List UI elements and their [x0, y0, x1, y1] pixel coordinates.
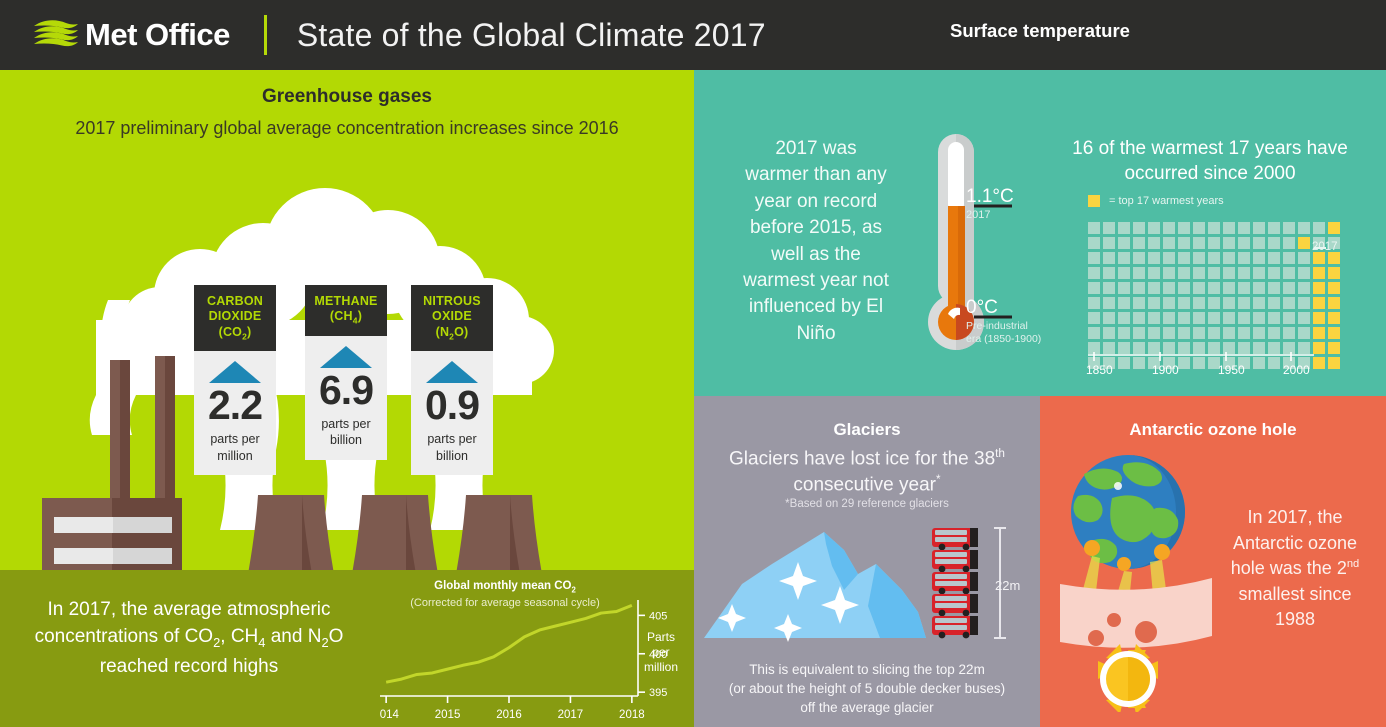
grid-cell — [1118, 282, 1130, 294]
grid-cell — [1193, 267, 1205, 279]
axis-tick-label: 2000 — [1283, 363, 1310, 377]
up-triangle-icon — [209, 361, 261, 383]
grid-cell — [1103, 237, 1115, 249]
warmest-years-tick-labels: 1850190019502000 — [1060, 363, 1360, 381]
grid-cell — [1118, 252, 1130, 264]
grid-cell — [1238, 282, 1250, 294]
svg-text:2015: 2015 — [435, 709, 461, 721]
grid-cell — [1118, 237, 1130, 249]
grid-cell-warmest — [1328, 342, 1340, 354]
ozone-statement: In 2017, the Antarctic ozone hole was th… — [1220, 505, 1370, 633]
axis-tick-label: 1850 — [1086, 363, 1113, 377]
grid-cell — [1193, 222, 1205, 234]
grid-cell — [1088, 297, 1100, 309]
grid-cell — [1088, 222, 1100, 234]
grid-cell-warmest — [1328, 327, 1340, 339]
greenhouse-title: Greenhouse gases — [0, 86, 694, 108]
glacier-icon — [704, 532, 926, 642]
grid-cell-warmest — [1328, 222, 1340, 234]
header-divider — [264, 15, 267, 55]
gas-card-body: 0.9 parts per billion — [411, 351, 493, 475]
grid-cell — [1148, 297, 1160, 309]
greenhouse-gases-panel: Greenhouse gases 2017 preliminary global… — [0, 70, 694, 570]
grid-cell — [1208, 327, 1220, 339]
svg-text:395: 395 — [649, 687, 667, 699]
grid-cell — [1088, 237, 1100, 249]
gas-formula: (CO2) — [196, 325, 274, 342]
grid-cell — [1268, 297, 1280, 309]
axis-tick-label: 1950 — [1218, 363, 1245, 377]
surface-temperature-title: Surface temperature — [694, 20, 1386, 42]
grid-cell — [1163, 222, 1175, 234]
ozone-title: Antarctic ozone hole — [1040, 420, 1386, 440]
grid-cell — [1103, 252, 1115, 264]
glaciers-footnote: This is equivalent to slicing the top 22… — [700, 660, 1034, 717]
svg-text:405: 405 — [649, 610, 667, 622]
grid-cell-warmest — [1328, 282, 1340, 294]
grid-cell — [1088, 282, 1100, 294]
grid-cell — [1193, 252, 1205, 264]
warmest-years-grid — [1088, 222, 1343, 372]
grid-cell — [1253, 222, 1265, 234]
grid-cell — [1298, 312, 1310, 324]
co2-chart-ylabel: Parts per million — [636, 630, 686, 675]
grid-cell — [1103, 267, 1115, 279]
grid-cell — [1298, 222, 1310, 234]
grid-cell — [1103, 222, 1115, 234]
greenhouse-subtitle: 2017 preliminary global average concentr… — [0, 118, 694, 139]
grid-cell — [1238, 237, 1250, 249]
grid-cell — [1193, 312, 1205, 324]
thermometer-high-label: 1.1°C — [966, 186, 1014, 208]
grid-cell — [1253, 237, 1265, 249]
grid-cell — [1118, 267, 1130, 279]
grid-cell — [1133, 267, 1145, 279]
grid-cell — [1103, 282, 1115, 294]
gas-name-line1: METHANE — [307, 294, 385, 309]
double-decker-bus-icon — [932, 528, 978, 550]
grid-cell — [1133, 327, 1145, 339]
grid-cell — [1133, 237, 1145, 249]
grid-cell — [1298, 252, 1310, 264]
warmest-years-legend: = top 17 warmest years — [1088, 195, 1224, 207]
grid-cell — [1163, 282, 1175, 294]
grid-cell — [1208, 312, 1220, 324]
grid-row — [1088, 237, 1343, 252]
legend-label: = top 17 warmest years — [1109, 195, 1224, 207]
logo-wordmark: Met Office — [85, 17, 230, 53]
gas-name-line2: DIOXIDE — [196, 309, 274, 324]
grid-cell — [1148, 237, 1160, 249]
glacier-measure-label: 22m — [995, 578, 1020, 593]
grid-cell-warmest — [1328, 252, 1340, 264]
grid-cell — [1148, 252, 1160, 264]
svg-text:2018: 2018 — [619, 709, 645, 721]
grid-cell — [1193, 297, 1205, 309]
grid-cell — [1178, 327, 1190, 339]
gas-formula: (N2O) — [413, 325, 491, 342]
gas-card-header: CARBON DIOXIDE (CO2) — [194, 285, 276, 351]
grid-cell — [1148, 327, 1160, 339]
grid-cell — [1193, 282, 1205, 294]
grid-cell — [1088, 312, 1100, 324]
gas-value: 2.2 — [196, 385, 274, 426]
grid-cell — [1298, 267, 1310, 279]
grid-cell — [1163, 267, 1175, 279]
grid-cell — [1268, 252, 1280, 264]
grid-cell — [1178, 297, 1190, 309]
bus-stack-icon — [932, 528, 978, 638]
pointer-label-2017: 2017 — [1312, 241, 1338, 253]
grid-cell — [1118, 327, 1130, 339]
glaciers-note: *Based on 29 reference glaciers — [704, 498, 1030, 510]
grid-row — [1088, 312, 1343, 327]
grid-cell — [1208, 282, 1220, 294]
grid-cell — [1088, 267, 1100, 279]
grid-cell — [1223, 222, 1235, 234]
grid-cell — [1298, 297, 1310, 309]
gas-name-line1: NITROUS — [413, 294, 491, 309]
grid-cell — [1238, 327, 1250, 339]
grid-cell — [1283, 252, 1295, 264]
glacier-and-buses-illustration — [694, 520, 1040, 645]
grid-cell — [1193, 327, 1205, 339]
warmest-years-axis — [1086, 352, 1316, 362]
grid-cell — [1283, 237, 1295, 249]
grid-row — [1088, 282, 1343, 297]
glaciers-statement: Glaciers have lost ice for the 38th cons… — [704, 446, 1030, 497]
gas-card-header: METHANE (CH4) — [305, 285, 387, 336]
cooling-tower-icon — [236, 495, 554, 570]
gas-card-header: NITROUS OXIDE (N2O) — [411, 285, 493, 351]
grid-cell — [1208, 237, 1220, 249]
grid-cell — [1283, 327, 1295, 339]
grid-cell — [1223, 312, 1235, 324]
grid-cell-warmest — [1313, 297, 1325, 309]
grid-cell — [1268, 312, 1280, 324]
grid-cell — [1238, 267, 1250, 279]
axis-tick-label: 1900 — [1152, 363, 1179, 377]
grid-cell — [1163, 312, 1175, 324]
grid-cell-warmest — [1328, 267, 1340, 279]
grid-cell — [1178, 222, 1190, 234]
grid-cell — [1208, 252, 1220, 264]
grid-cell — [1253, 312, 1265, 324]
gas-unit: parts per million — [196, 431, 274, 464]
greenhouse-bottom-panel: In 2017, the average atmospheric concent… — [0, 570, 694, 727]
grid-row — [1088, 267, 1343, 282]
grid-cell — [1268, 282, 1280, 294]
grid-cell — [1208, 297, 1220, 309]
grid-cell — [1148, 267, 1160, 279]
svg-text:2016: 2016 — [496, 709, 522, 721]
earth-globe-icon — [1071, 455, 1185, 571]
grid-cell — [1283, 282, 1295, 294]
grid-cell — [1163, 297, 1175, 309]
infographic-page: Met Office State of the Global Climate 2… — [0, 0, 1386, 727]
grid-cell — [1163, 237, 1175, 249]
grid-cell — [1178, 252, 1190, 264]
grid-cell — [1283, 222, 1295, 234]
grid-cell — [1193, 237, 1205, 249]
grid-cell — [1223, 297, 1235, 309]
gas-name-line2: OXIDE — [413, 309, 491, 324]
grid-cell — [1178, 267, 1190, 279]
up-triangle-icon — [320, 346, 372, 368]
gas-card-nitrous-oxide[interactable]: NITROUS OXIDE (N2O) 0.9 parts per billio… — [411, 285, 493, 475]
grid-cell — [1148, 282, 1160, 294]
grid-cell — [1253, 327, 1265, 339]
svg-text:2017: 2017 — [558, 709, 584, 721]
ozone-illustration — [1050, 452, 1240, 712]
up-triangle-icon — [426, 361, 478, 383]
gas-unit: parts per billion — [413, 431, 491, 464]
grid-cell — [1103, 297, 1115, 309]
met-office-logo[interactable]: Met Office — [32, 17, 230, 53]
grid-cell — [1088, 327, 1100, 339]
grid-cell — [1253, 282, 1265, 294]
grid-cell — [1298, 282, 1310, 294]
grid-cell — [1118, 297, 1130, 309]
grid-cell-warmest — [1298, 237, 1310, 249]
double-decker-bus-icon — [932, 594, 978, 616]
grid-cell — [1298, 327, 1310, 339]
double-decker-bus-icon — [932, 550, 978, 572]
gas-card-body: 6.9 parts per billion — [305, 336, 387, 460]
grid-cell — [1208, 222, 1220, 234]
grid-row — [1088, 252, 1343, 267]
grid-row — [1088, 222, 1343, 237]
svg-text:2014: 2014 — [380, 709, 400, 721]
grid-cell — [1133, 222, 1145, 234]
grid-cell — [1103, 312, 1115, 324]
surface-temperature-statement: 2017 was warmer than any year on record … — [742, 136, 890, 347]
glaciers-title: Glaciers — [694, 420, 1040, 440]
grid-cell — [1253, 297, 1265, 309]
grid-cell — [1133, 282, 1145, 294]
grid-cell — [1148, 222, 1160, 234]
grid-cell — [1178, 282, 1190, 294]
grid-cell — [1148, 312, 1160, 324]
grid-cell — [1238, 222, 1250, 234]
grid-cell — [1223, 237, 1235, 249]
grid-cell — [1238, 252, 1250, 264]
grid-cell — [1133, 252, 1145, 264]
grid-cell — [1133, 297, 1145, 309]
gas-value: 0.9 — [413, 385, 491, 426]
factory-building-icon — [42, 498, 182, 570]
grid-cell — [1268, 267, 1280, 279]
ozone-layer-icon — [1060, 578, 1212, 648]
grid-cell — [1118, 222, 1130, 234]
grid-cell — [1283, 312, 1295, 324]
grid-cell — [1223, 282, 1235, 294]
gas-card-carbon-dioxide[interactable]: CARBON DIOXIDE (CO2) 2.2 parts per milli… — [194, 285, 276, 475]
grid-cell — [1088, 252, 1100, 264]
double-decker-bus-icon — [932, 616, 978, 638]
grid-cell-warmest — [1328, 297, 1340, 309]
grid-cell — [1163, 327, 1175, 339]
grid-cell-warmest — [1313, 312, 1325, 324]
gas-card-methane[interactable]: METHANE (CH4) 6.9 parts per billion — [305, 285, 387, 460]
grid-cell — [1223, 252, 1235, 264]
gas-value: 6.9 — [307, 370, 385, 411]
grid-cell — [1253, 267, 1265, 279]
gas-card-body: 2.2 parts per million — [194, 351, 276, 475]
grid-cell — [1313, 222, 1325, 234]
sun-icon — [1098, 644, 1158, 712]
grid-cell-warmest — [1313, 282, 1325, 294]
thermometer-low-sublabel: Pre-industrial era (1850-1900) — [966, 320, 1041, 346]
thermometer-low-label: 0°C — [966, 297, 998, 319]
thermometer-high-sublabel: 2017 — [966, 209, 990, 221]
grid-cell — [1163, 252, 1175, 264]
double-decker-bus-icon — [932, 572, 978, 594]
grid-cell-warmest — [1328, 312, 1340, 324]
gas-formula: (CH4) — [307, 309, 385, 326]
legend-swatch-icon — [1088, 195, 1100, 207]
grid-cell — [1268, 327, 1280, 339]
grid-cell — [1238, 297, 1250, 309]
grid-cell-warmest — [1313, 252, 1325, 264]
grid-cell — [1103, 327, 1115, 339]
grid-row — [1088, 327, 1343, 342]
grid-cell — [1223, 327, 1235, 339]
grid-cell — [1268, 222, 1280, 234]
grid-cell — [1238, 312, 1250, 324]
gas-name-line1: CARBON — [196, 294, 274, 309]
met-office-wave-icon — [32, 18, 80, 52]
grid-row — [1088, 297, 1343, 312]
warmest-years-headline: 16 of the warmest 17 years have occurred… — [1040, 136, 1380, 186]
grid-cell — [1178, 237, 1190, 249]
grid-cell — [1208, 267, 1220, 279]
grid-cell — [1223, 267, 1235, 279]
grid-cell — [1178, 312, 1190, 324]
grid-cell — [1118, 312, 1130, 324]
greenhouse-record-statement: In 2017, the average atmospheric concent… — [24, 596, 354, 680]
grid-cell-warmest — [1313, 267, 1325, 279]
grid-cell-warmest — [1313, 327, 1325, 339]
grid-cell — [1253, 252, 1265, 264]
gas-unit: parts per billion — [307, 416, 385, 449]
grid-cell — [1268, 237, 1280, 249]
grid-cell — [1283, 297, 1295, 309]
grid-cell — [1133, 312, 1145, 324]
grid-cell — [1283, 267, 1295, 279]
